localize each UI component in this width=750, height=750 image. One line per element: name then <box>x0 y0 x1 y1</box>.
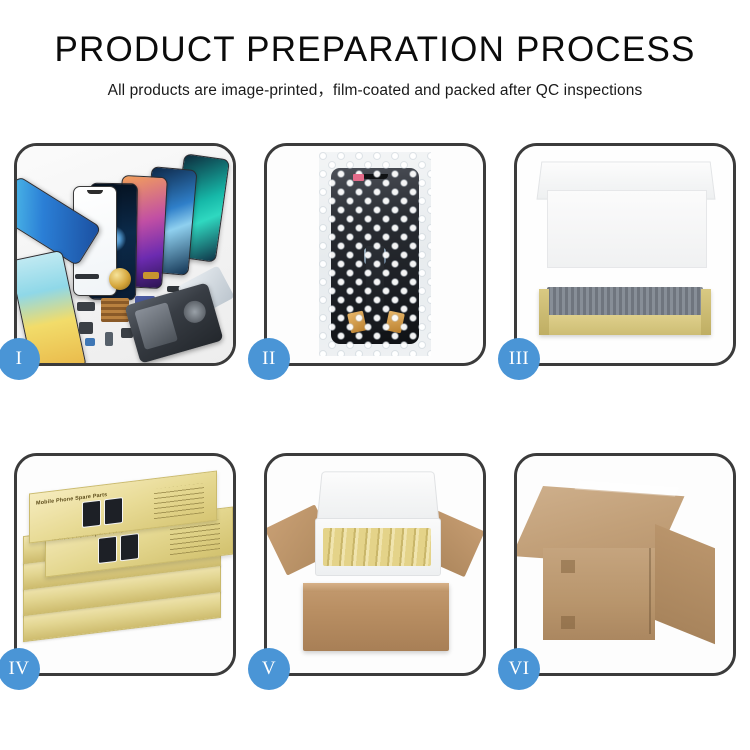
carton-tab-icon <box>561 616 575 629</box>
step-badge-4: IV <box>0 648 40 690</box>
step-badge-5: V <box>248 648 290 690</box>
box-lip-right <box>701 289 711 335</box>
part-icon <box>85 338 95 346</box>
process-step-panel-4[interactable]: Mobile Phone Spare Parts Mobile Phone Sp… <box>14 453 236 676</box>
part-icon <box>143 272 159 279</box>
box-spec-lines <box>154 483 204 519</box>
step-badge-2: II <box>248 338 290 380</box>
page-title: PRODUCT PREPARATION PROCESS <box>0 30 750 69</box>
box-phone-graphic <box>82 500 101 528</box>
step-1-image <box>17 146 233 363</box>
speaker-part-icon <box>109 268 131 290</box>
part-icon <box>79 322 93 334</box>
carton-front-face <box>543 548 655 640</box>
carton-tab-icon <box>561 560 575 573</box>
process-step-panel-3[interactable]: III <box>514 143 736 366</box>
process-step-panel-1[interactable]: I <box>14 143 236 366</box>
part-icon <box>77 302 95 311</box>
part-icon <box>105 332 113 346</box>
step-6-image <box>517 456 733 673</box>
process-step-panel-6[interactable]: VI <box>514 453 736 676</box>
box-phone-graphic <box>120 533 139 561</box>
page-subtitle: All products are image-printed，film-coat… <box>0 78 750 100</box>
gold-boxes-inside <box>323 528 431 566</box>
process-step-panel-2[interactable]: II <box>264 143 486 366</box>
step-4-image: Mobile Phone Spare Parts Mobile Phone Sp… <box>17 456 233 673</box>
step-2-image <box>267 146 483 363</box>
carton-edge-seam <box>649 548 651 634</box>
box-stack: Mobile Phone Spare Parts Mobile Phone Sp… <box>23 476 229 664</box>
process-steps-grid: I II III <box>14 143 736 676</box>
box-phone-graphic <box>98 536 117 564</box>
part-icon <box>75 274 99 279</box>
step-badge-6: VI <box>498 648 540 690</box>
carton-side-face <box>655 524 715 644</box>
packed-product <box>547 287 703 315</box>
pink-label-icon <box>353 174 364 181</box>
bubble-wrap-texture <box>319 152 431 356</box>
box-phone-graphic <box>104 497 123 525</box>
step-badge-3: III <box>498 338 540 380</box>
process-step-panel-5[interactable]: V <box>264 453 486 676</box>
bubble-bag <box>319 152 431 356</box>
step-badge-1: I <box>0 338 40 380</box>
box-lip-left <box>539 289 549 335</box>
foam-sheet <box>547 190 707 268</box>
carton-body <box>303 583 449 651</box>
step-3-image <box>517 146 733 363</box>
page-header: PRODUCT PREPARATION PROCESS All products… <box>0 0 750 100</box>
step-5-image <box>267 456 483 673</box>
